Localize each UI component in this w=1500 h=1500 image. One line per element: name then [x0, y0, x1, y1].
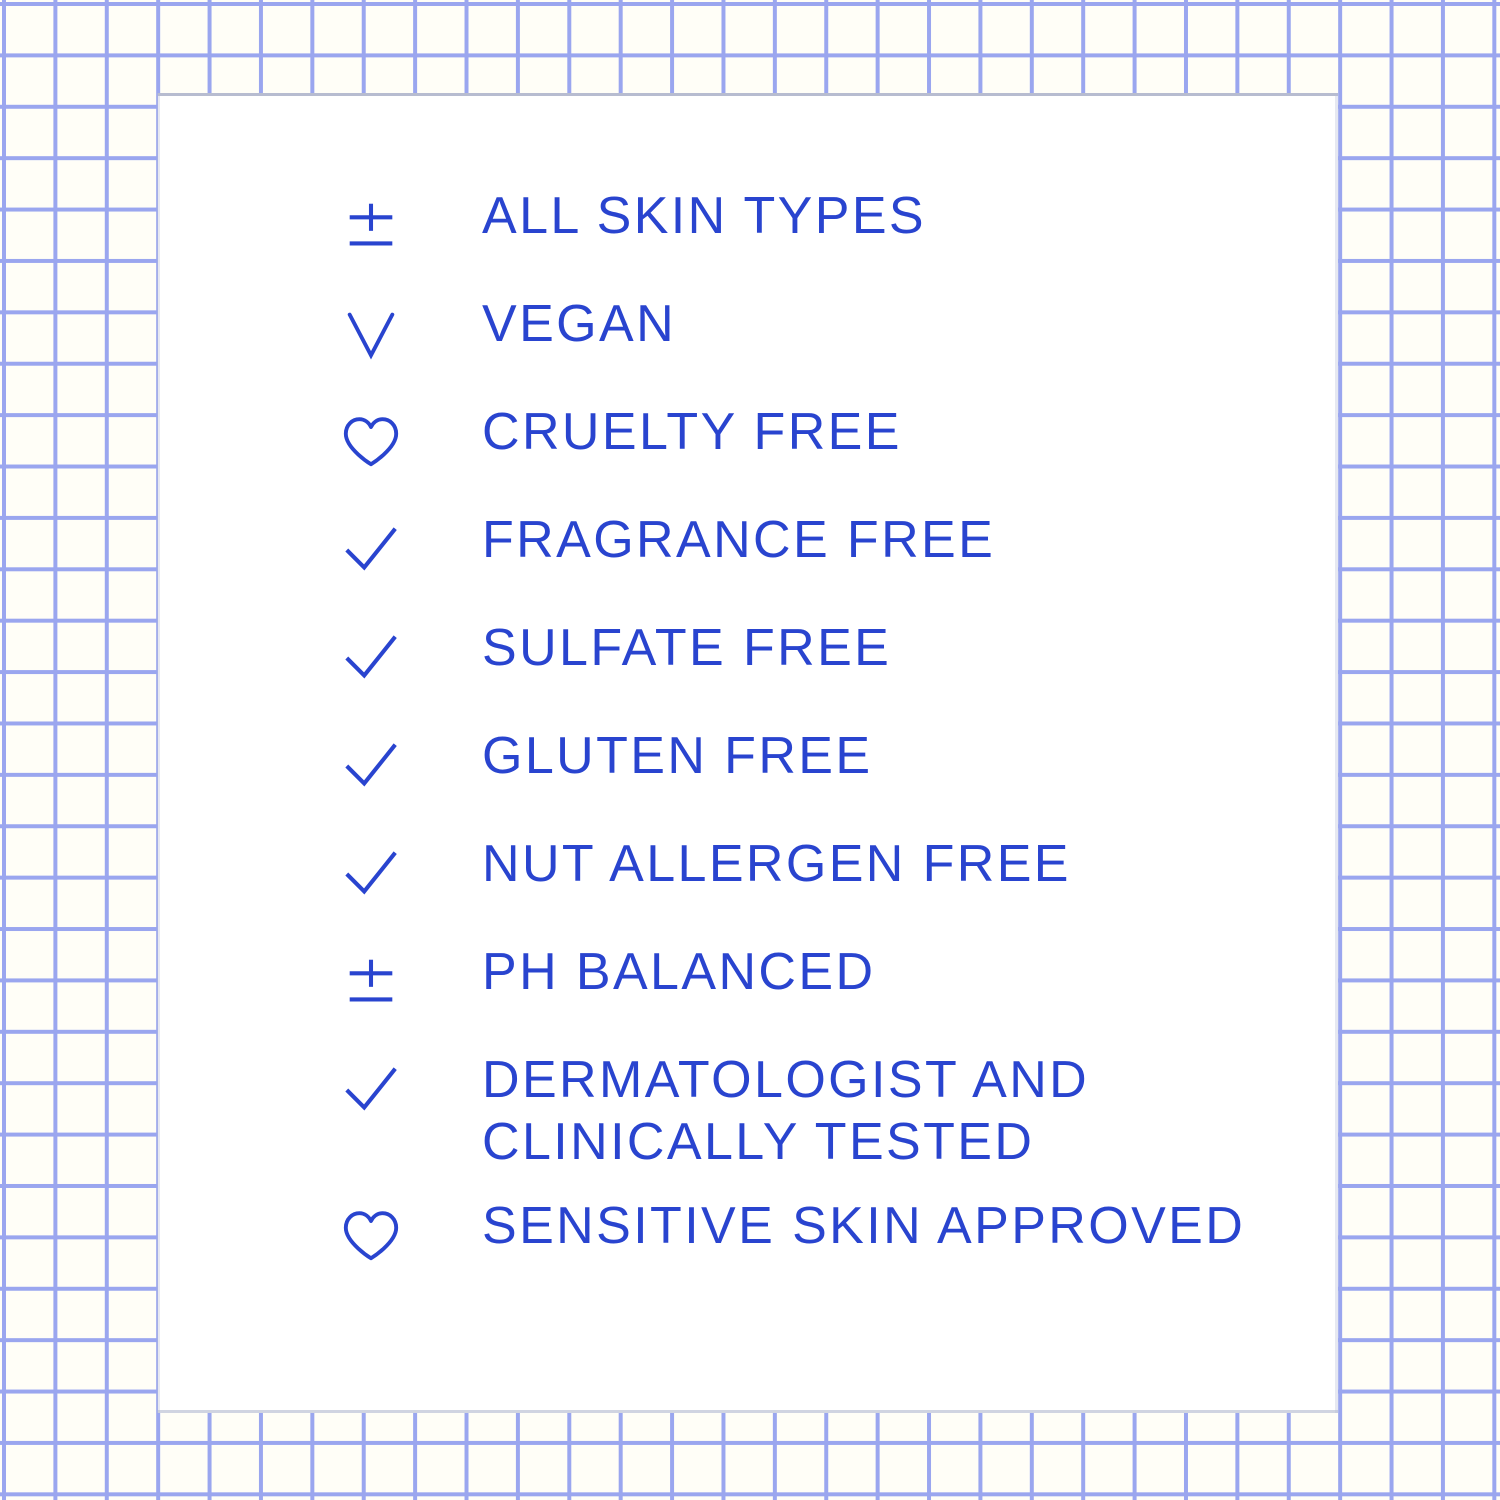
claim-label: VEGAN [482, 293, 1318, 355]
product-claims-card: ALL SKIN TYPESVEGANCRUELTY FREEFRAGRANCE… [0, 0, 1500, 1500]
claim-label: DERMATOLOGIST AND CLINICALLY TESTED [482, 1049, 1318, 1173]
claim-label: GLUTEN FREE [482, 725, 1318, 787]
claim-label: SENSITIVE SKIN APPROVED [482, 1195, 1318, 1257]
plus-minus-icon [338, 949, 404, 1015]
check-icon [338, 733, 404, 799]
claim-label: SULFATE FREE [482, 617, 1318, 679]
check-icon [338, 841, 404, 907]
claim-row: SENSITIVE SKIN APPROVED [338, 1195, 1318, 1303]
heart-icon [338, 409, 404, 475]
claim-row: DERMATOLOGIST AND CLINICALLY TESTED [338, 1049, 1318, 1195]
claim-row: PH BALANCED [338, 941, 1318, 1049]
claim-row: GLUTEN FREE [338, 725, 1318, 833]
panel-top-rule [158, 93, 1338, 96]
claim-label: CRUELTY FREE [482, 401, 1318, 463]
claim-row: FRAGRANCE FREE [338, 509, 1318, 617]
claim-row: NUT ALLERGEN FREE [338, 833, 1318, 941]
panel-bottom-rule [158, 1410, 1338, 1413]
claims-list: ALL SKIN TYPESVEGANCRUELTY FREEFRAGRANCE… [338, 185, 1318, 1303]
plus-minus-icon [338, 193, 404, 259]
claim-row: ALL SKIN TYPES [338, 185, 1318, 293]
heart-icon [338, 1203, 404, 1269]
chevron-down-icon [338, 301, 404, 367]
panel-left-rule [157, 93, 160, 1413]
claim-label: PH BALANCED [482, 941, 1318, 1003]
check-icon [338, 625, 404, 691]
check-icon [338, 1057, 404, 1123]
claim-row: VEGAN [338, 293, 1318, 401]
claim-label: NUT ALLERGEN FREE [482, 833, 1318, 895]
claim-row: CRUELTY FREE [338, 401, 1318, 509]
claim-label: FRAGRANCE FREE [482, 509, 1318, 571]
panel-right-rule [1335, 93, 1338, 1413]
claim-label: ALL SKIN TYPES [482, 185, 1318, 247]
claim-row: SULFATE FREE [338, 617, 1318, 725]
check-icon [338, 517, 404, 583]
